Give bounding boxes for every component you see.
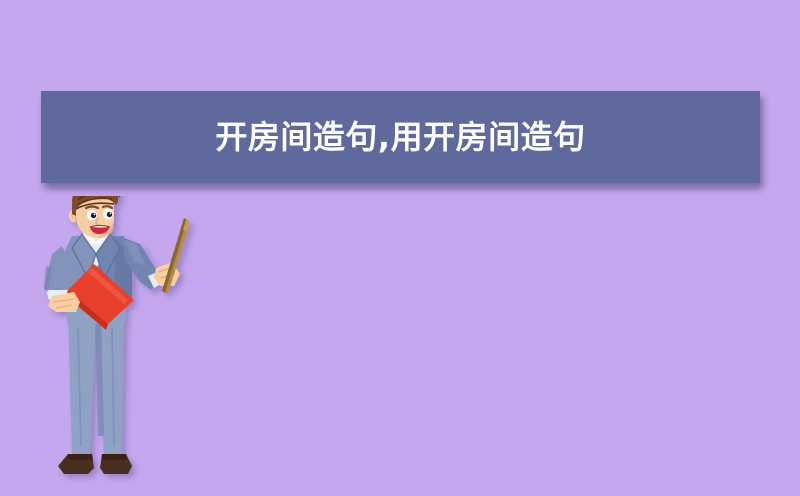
left-arm-group [44, 246, 68, 300]
pointer-stick [162, 218, 190, 294]
page-root: 开房间造句,用开房间造句 [0, 0, 800, 496]
shoes-group [58, 454, 132, 474]
title-banner: 开房间造句,用开房间造句 [41, 91, 760, 183]
teacher-illustration [28, 196, 228, 496]
page-title: 开房间造句,用开房间造句 [215, 121, 585, 153]
